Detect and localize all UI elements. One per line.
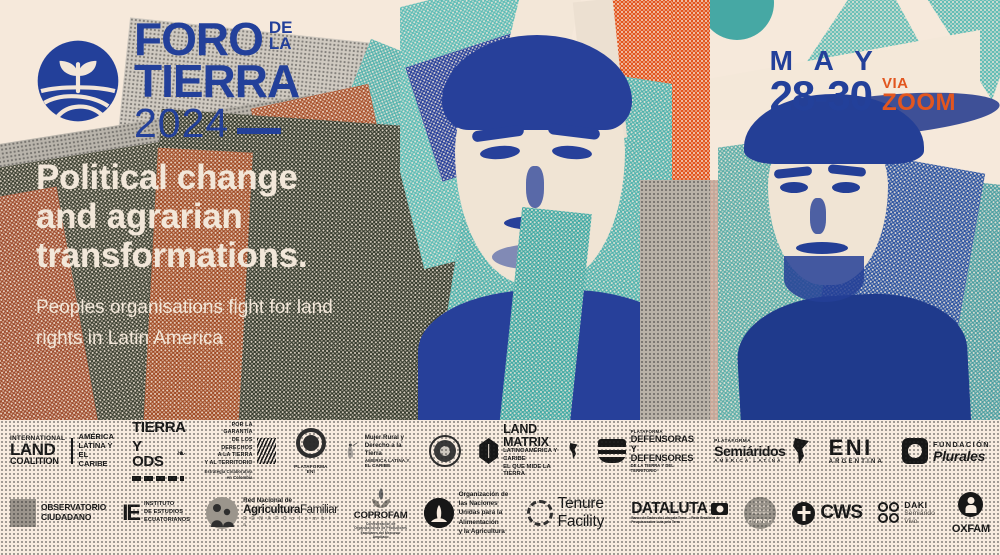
cws-title: CWS — [820, 502, 862, 524]
logo-instituto-estudios-ecuatorianos[interactable]: IE INSTITUTO DE ESTUDIOS ECUATORIANOS — [122, 501, 190, 525]
cube-icon — [479, 438, 498, 464]
logo-plataforma-semiaridos[interactable]: PLATAFORMA Semiáridos AMÉRICA LATINA — [714, 437, 810, 465]
logo-tenure-facility[interactable]: Tenure Facility — [527, 495, 616, 531]
defensoras-subline: DE LA TIERRA Y DEL TERRITORIO — [631, 463, 696, 473]
logo-fundacion-plurales[interactable]: FUNDACIÓN Plurales — [902, 438, 990, 464]
iee-line-3: ECUATORIANOS — [144, 517, 190, 525]
logo-daki-semiarido-vivo[interactable]: DAKI Semiárido Vivo — [878, 501, 936, 525]
semiaridos-line-3: AMÉRICA LATINA — [714, 458, 785, 463]
mujer-rural-line-2: Derecho a la Tierra — [365, 442, 411, 458]
furrow-rule — [132, 476, 184, 481]
brand-foro: FORO — [134, 18, 263, 60]
garantia-line-3: A LA TIERRA — [204, 452, 253, 460]
logo-observatorio-ciudadano[interactable]: OBSERVATORIO CIUDADANO — [10, 499, 106, 527]
mujer-rural-line-1: Mujer Rural y — [365, 434, 411, 442]
latin-america-map-icon — [568, 439, 580, 463]
brand-wordmark: FORO DE LA TIERRA 2024 — [134, 18, 299, 144]
brand-year: 2024 — [134, 103, 229, 144]
land-matrix-title: LAND MATRIX — [503, 423, 563, 448]
portrait-right-mouth — [796, 242, 848, 254]
woman-figure-icon — [345, 436, 359, 466]
cimac-circle-icon: Centro de Investigación Comunicación e I… — [744, 497, 776, 529]
semiaridos-line-2: Semiáridos — [714, 444, 785, 458]
cross-circle-icon — [792, 502, 815, 525]
fao-line-3: y la Agricultura — [459, 527, 511, 536]
event-days: 28-30 — [770, 75, 872, 117]
garantia-line-1: POR LA GARANTÍA — [204, 422, 253, 437]
eni-title: ENI — [829, 437, 884, 458]
garantia-line-4: Y AL TERRITORIO — [204, 460, 253, 468]
garantia-subline: Estrategia Colaborativa en Colombia — [204, 468, 253, 481]
event-platform: ZOOM — [882, 91, 956, 115]
ilc-land-text: LAND — [10, 443, 65, 457]
camera-square-icon — [902, 438, 928, 464]
leaf-icon: ❧ — [176, 450, 185, 460]
logo-plataforma-eni[interactable]: PLATAFORMA ENI — [294, 428, 327, 474]
fao-emblem-icon — [424, 498, 454, 528]
ilc-region-text: AMÉRICA LATINA Y EL CARIBE — [79, 433, 115, 469]
logo-eni-argentina[interactable]: ENI ARGENTINA — [829, 437, 884, 464]
headline-line-1: Political change — [36, 158, 466, 197]
hands-plant-icon — [369, 487, 393, 509]
event-month: M A Y — [770, 46, 956, 75]
partner-logo-bar: INTERNATIONAL LAND COALITION AMÉRICA LAT… — [0, 420, 1000, 555]
tierra-ods-line-2: Y ODS — [132, 440, 173, 469]
logo-cws[interactable]: CWS — [792, 502, 862, 525]
land-matrix-sub-1: LATINOAMÉRICA Y CARIBE — [503, 448, 563, 463]
cimac-title: cimac — [748, 516, 773, 525]
poster-canvas: FORO DE LA TIERRA 2024 M A Y 28-30 VIA Z… — [0, 0, 1000, 555]
dataluta-title: DATALUTA — [631, 501, 707, 517]
logo-coprofam[interactable]: COPROFAM Confederación de Organizaciones… — [354, 487, 408, 540]
logo-land-matrix[interactable]: LAND MATRIX LATINOAMÉRICA Y CARIBE EL QU… — [479, 423, 580, 479]
latin-america-map-icon — [791, 437, 811, 465]
tenure-globe-icon — [527, 500, 553, 526]
portrait-right-eye — [780, 182, 808, 193]
daki-line-2: Semiárido Vivo — [904, 510, 936, 525]
logo-red-nacional-agricultura-familiar[interactable]: Red Nacional de AgriculturaFamiliar R E … — [206, 497, 338, 529]
renaf-line-1: Red Nacional de — [243, 498, 338, 505]
headline-line-2: and agrarian — [36, 197, 466, 236]
four-circles-icon — [878, 502, 899, 523]
orange-shape — [672, 0, 710, 185]
coprofam-title: COPROFAM — [354, 510, 408, 521]
brand-underline — [237, 128, 281, 134]
cimac-top-2: Comunicación e Información — [744, 509, 776, 516]
plataforma-eni-caption: PLATAFORMA ENI — [294, 464, 327, 474]
land-furrow-icon — [598, 439, 626, 463]
portrait-right-nose — [810, 198, 826, 234]
divider — [71, 438, 72, 464]
brazil-flag-icon — [711, 503, 728, 515]
sprout-field-circle-icon — [36, 39, 120, 123]
circular-emblem-icon — [296, 428, 326, 458]
portrait-left-nose — [526, 166, 544, 208]
renaf-line-3: R E N A F C o l o m b i a — [243, 516, 338, 528]
observatory-mark-icon — [10, 499, 36, 527]
oxfam-title: OXFAM — [952, 523, 990, 535]
teal-circle-shape — [700, 0, 774, 40]
logo-fao[interactable]: Organización de las Naciones Unidas para… — [424, 490, 511, 535]
headline-block: Political change and agrarian transforma… — [36, 158, 466, 354]
logo-mujer-rural[interactable]: Mujer Rural y Derecho a la Tierra AMÉRIC… — [345, 434, 411, 469]
tenure-facility-title: Tenure Facility — [558, 495, 616, 531]
event-date-block: M A Y 28-30 VIA ZOOM — [770, 46, 956, 117]
garantia-line-2: DE LOS DERECHOS — [204, 437, 253, 452]
ilc-coalition-text: COALITION — [10, 457, 65, 466]
coprofam-subtitle: Confederación de Organizaciones de Produ… — [354, 522, 408, 540]
land-matrix-sub-2: EL QUE MIDE LA TIERRA — [503, 464, 563, 479]
logo-international-land-coalition[interactable]: INTERNATIONAL LAND COALITION AMÉRICA LAT… — [10, 433, 114, 469]
logo-dataluta[interactable]: DATALUTA Banco de Dados da Luta pela Ter… — [631, 501, 728, 524]
portrait-right-panel — [718, 80, 1000, 420]
family-figures-icon — [206, 497, 238, 529]
headline-line-3: transformations. — [36, 236, 466, 275]
ie-monogram: IE — [122, 503, 139, 523]
tierra-ods-line-1: TIERRA — [132, 421, 185, 435]
iee-line-1: INSTITUTO — [144, 501, 190, 509]
logo-oxfam[interactable]: OXFAM — [952, 492, 990, 535]
renaf-line-2b: Familiar — [300, 504, 338, 516]
plurales-line-2: Plurales — [933, 449, 990, 463]
logo-plataforma-defensoras[interactable]: PLATAFORMA DEFENSORAS Y DEFENSORES DE LA… — [598, 429, 696, 473]
brand-tierra: TIERRA — [134, 60, 299, 102]
observatorio-line-2: CIUDADANO — [41, 513, 106, 523]
portrait-right-beard — [784, 256, 864, 302]
dataluta-subtitle: Banco de Dados da Luta pela Terra — Rede… — [631, 517, 723, 525]
brand-la: LA — [269, 36, 293, 52]
logo-row-1: INTERNATIONAL LAND COALITION AMÉRICA LAT… — [0, 420, 1000, 482]
oxfam-figure-icon — [958, 492, 983, 517]
striped-square-icon — [257, 438, 277, 464]
renaf-line-2a: Agricultura — [243, 504, 300, 516]
brand-lockup: FORO DE LA TIERRA 2024 — [36, 18, 299, 144]
logo-emblem-seal[interactable] — [429, 435, 461, 467]
subheadline-line-1: Peoples organisations fight for land — [36, 292, 466, 323]
defensoras-line-2: DEFENSORAS — [631, 434, 696, 444]
grey-shape — [640, 180, 710, 420]
iee-line-2: DE ESTUDIOS — [144, 509, 190, 517]
eni-subtitle: ARGENTINA — [829, 459, 884, 465]
logo-tierra-y-ods[interactable]: TIERRA Y ODS ❧ — [132, 421, 185, 481]
logo-row-2: OBSERVATORIO CIUDADANO IE INSTITUTO DE E… — [0, 482, 1000, 544]
logo-cimac[interactable]: Centro de Investigación Comunicación e I… — [744, 497, 776, 529]
mujer-rural-subline: AMÉRICA LATINA Y EL CARIBE — [365, 458, 411, 468]
logo-por-la-garantia[interactable]: POR LA GARANTÍA DE LOS DERECHOS A LA TIE… — [204, 422, 277, 481]
subheadline-line-2: rights in Latin America — [36, 323, 466, 354]
fao-line-1: Organización de las Naciones — [459, 490, 511, 508]
daki-line-1: DAKI — [904, 501, 936, 510]
defensoras-line-3: Y DEFENSORES — [631, 444, 696, 463]
fao-line-2: Unidas para la Alimentación — [459, 508, 511, 526]
seal-emblem-icon — [429, 435, 461, 467]
portrait-right-eye — [832, 182, 860, 193]
